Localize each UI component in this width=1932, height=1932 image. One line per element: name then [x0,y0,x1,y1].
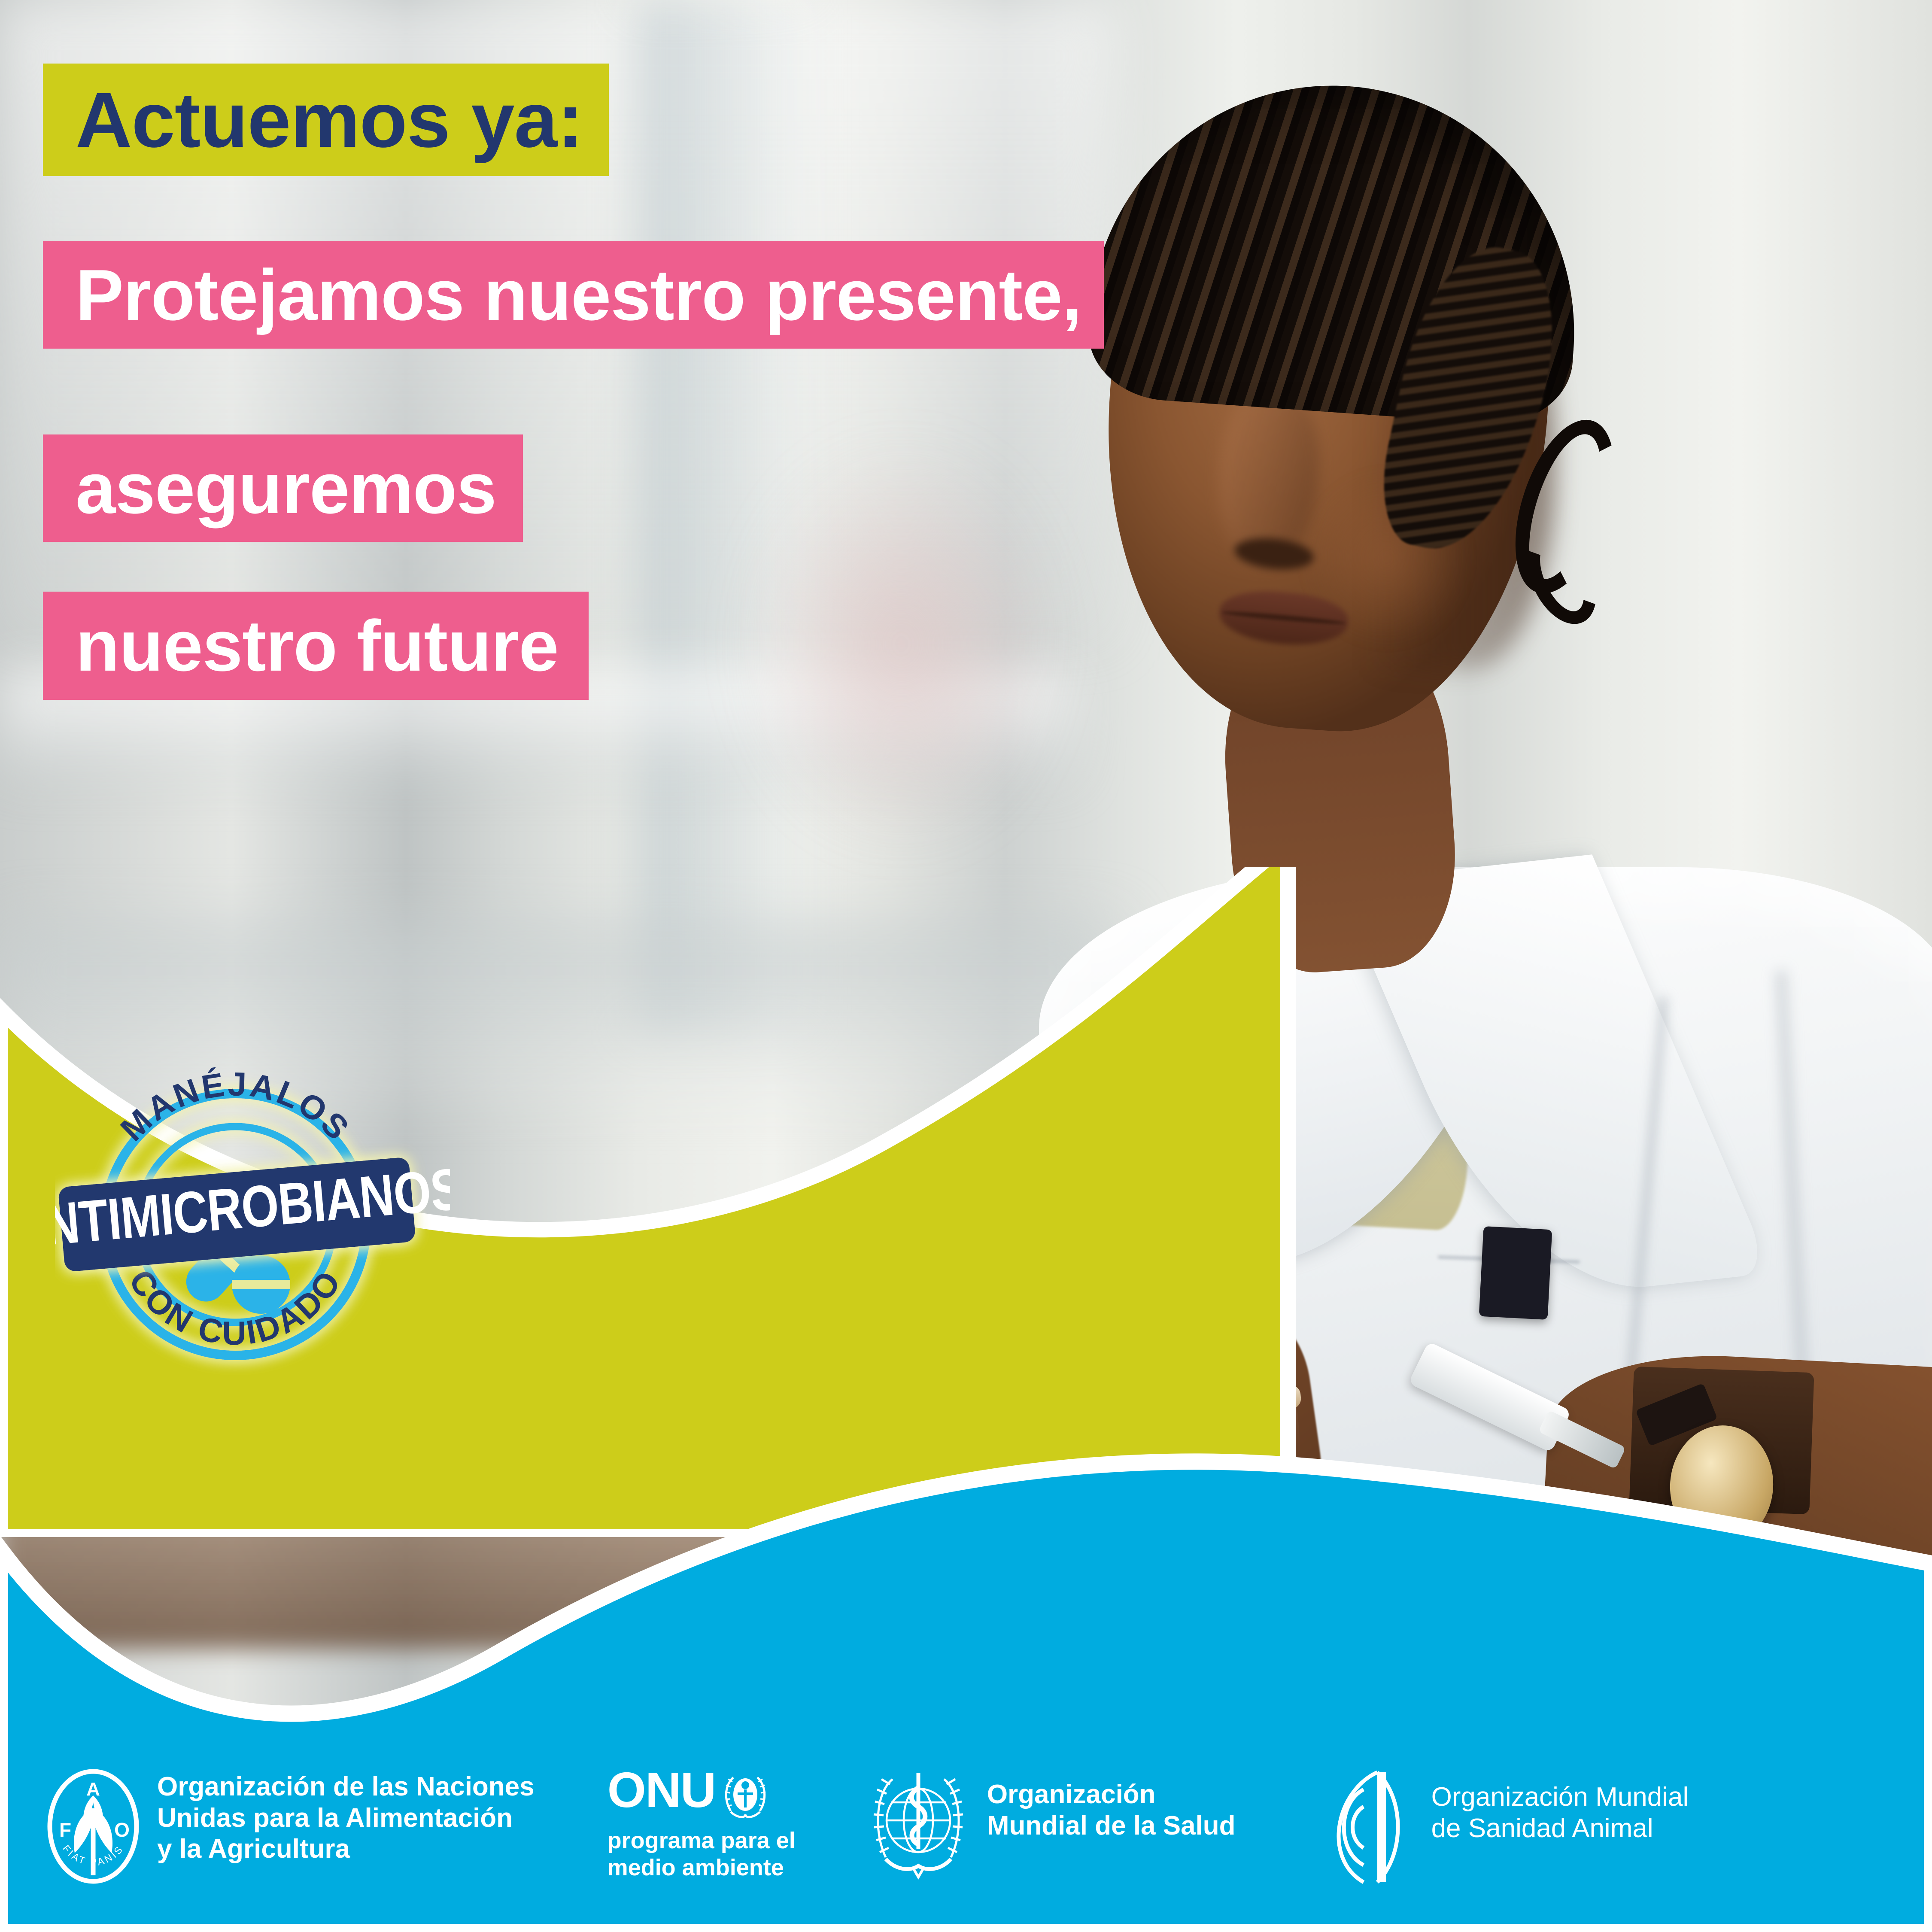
woah-logo-icon [1313,1769,1414,1886]
test-tube [824,1236,869,1580]
headline-band-line-1: Protejamos nuestro presente, [43,241,1104,349]
headline-eyebrow-text: Actuemos ya: [76,81,583,159]
unep-acronym-text: ONU [608,1769,716,1812]
test-tube [1114,1226,1161,1586]
logo-unep[interactable]: ONU programa para el medio [608,1769,796,1881]
fao-logo-icon: A F O FIAT PANIS [46,1769,140,1884]
headline-line-2-text: aseguremos [76,452,496,524]
who-logo-icon [864,1769,972,1884]
headline-line-1-text: Protejamos nuestro presente, [76,259,1081,331]
antimicrobials-badge: MANÉJALOS CON CUIDADO ANTIMICROBIANOS [55,1044,450,1388]
unep-label: programa para el medio ambiente [608,1827,796,1881]
test-tube [1043,1245,1094,1584]
round-tablet-icon [232,1255,290,1314]
logo-woah[interactable]: Organización Mundial de Sanidad Animal [1313,1769,1689,1886]
svg-text:A: A [86,1779,100,1800]
test-tube [891,1217,942,1586]
logo-fao[interactable]: A F O FIAT PANIS Organización de las Nac… [46,1769,535,1884]
who-label: Organización Mundial de la Salud [987,1779,1236,1841]
logo-who[interactable]: Organización Mundial de la Salud [864,1769,1236,1884]
svg-text:F: F [59,1819,71,1841]
badge-top-arc-text: MANÉJALOS [113,1065,358,1148]
woah-label: Organización Mundial de Sanidad Animal [1431,1782,1689,1844]
headline-eyebrow-band: Actuemos ya: [43,64,609,176]
svg-text:O: O [114,1819,130,1841]
fao-label: Organización de las Naciones Unidas para… [157,1771,535,1865]
footer-logo-bar: A F O FIAT PANIS Organización de las Nac… [0,1743,1932,1932]
headline-band-line-2: aseguremos [43,434,523,542]
poster-root: MANÉJALOS CON CUIDADO ANTIMICROBIANOS Ac… [0,0,1932,1932]
unep-logo-icon [722,1771,769,1820]
pocket-pen [1479,1226,1552,1320]
headline-band-line-3: nuestro future [43,592,589,700]
headline-line-3-text: nuestro future [76,610,559,682]
